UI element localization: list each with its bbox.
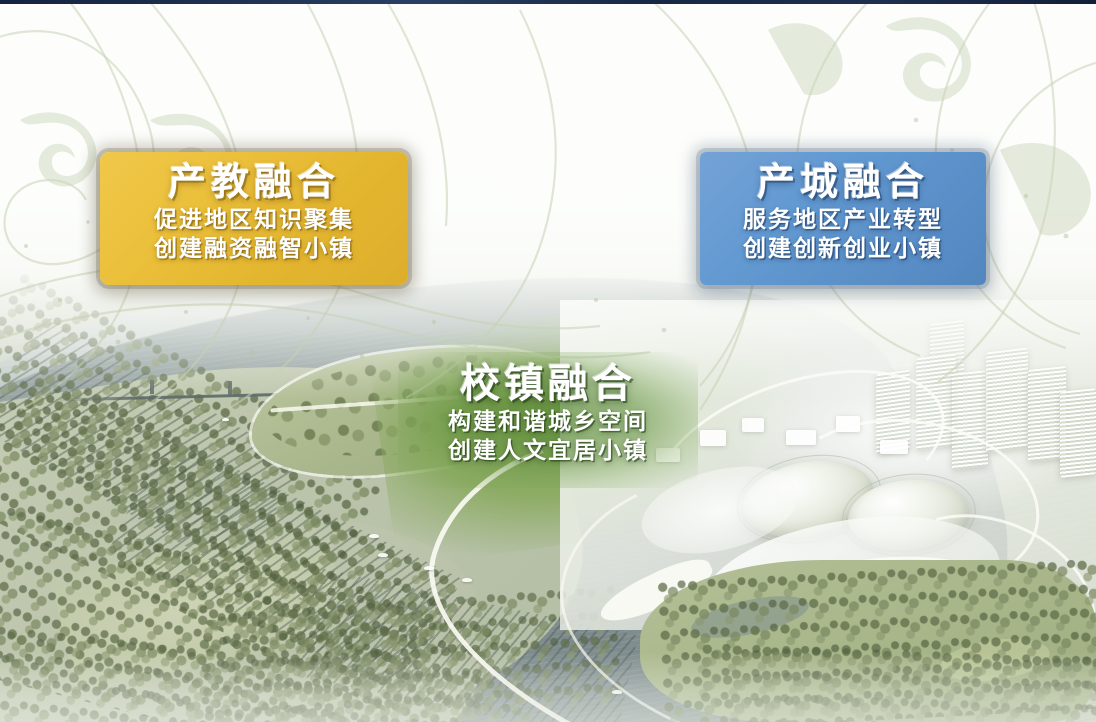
high-rise-tower [1060, 388, 1096, 478]
panel-industry-city[interactable]: 产城融合 服务地区产业转型 创建创新创业小镇 [700, 152, 986, 285]
boat [378, 553, 388, 557]
panel-heading: 产城融合 [718, 162, 968, 205]
poster-canvas: 产教融合 促进地区知识聚集 创建融资融智小镇 产城融合 服务地区产业转型 创建创… [0, 0, 1096, 722]
top-navy-strip [0, 0, 1096, 4]
panel-line-2: 创建融资融智小镇 [118, 234, 390, 263]
panel-school-town[interactable]: 校镇融合 构建和谐城乡空间 创建人文宜居小镇 [398, 352, 698, 488]
panel-heading: 校镇融合 [416, 362, 680, 407]
boat [424, 566, 434, 570]
boat [369, 534, 379, 538]
panel-line-2: 创建人文宜居小镇 [416, 436, 680, 465]
panel-line-2: 创建创新创业小镇 [718, 234, 968, 263]
panel-industry-education[interactable]: 产教融合 促进地区知识聚集 创建融资融智小镇 [100, 152, 408, 285]
panel-line-1: 构建和谐城乡空间 [416, 407, 680, 436]
boat [222, 418, 229, 421]
boat [462, 578, 472, 582]
panel-heading: 产教融合 [118, 162, 390, 205]
panel-line-1: 促进地区知识聚集 [118, 205, 390, 234]
panel-line-1: 服务地区产业转型 [718, 205, 968, 234]
bottom-haze-overlay [0, 652, 1096, 722]
